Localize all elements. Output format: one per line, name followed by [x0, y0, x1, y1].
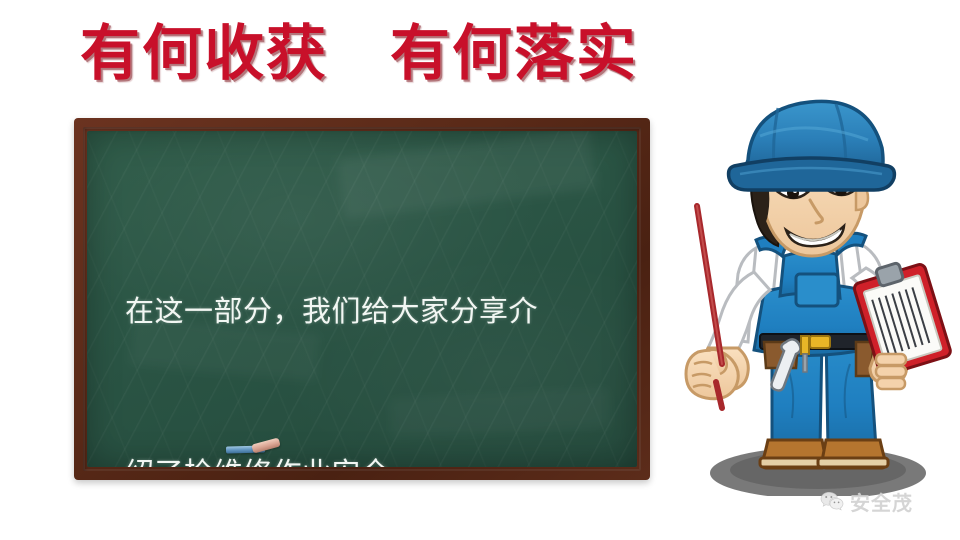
blackboard-frame: 在这一部分，我们给大家分享介 绍了检维修作业安全。 对于此部分内容，大家还有什么… [74, 118, 650, 480]
wechat-icon [820, 491, 844, 513]
worker-left-arm [686, 206, 770, 408]
blackboard: 在这一部分，我们给大家分享介 绍了检维修作业安全。 对于此部分内容，大家还有什么… [74, 118, 650, 480]
worker-boots [760, 440, 888, 468]
page-title: 有何收获 有何落实 [80, 14, 680, 94]
blackboard-text: 在这一部分，我们给大家分享介 绍了检维修作业安全。 对于此部分内容，大家还有什么… [125, 177, 615, 467]
watermark: 安全茂 [820, 487, 913, 516]
blackboard-surface: 在这一部分，我们给大家分享介 绍了检维修作业安全。 对于此部分内容，大家还有什么… [87, 131, 637, 467]
watermark-label: 安全茂 [850, 487, 913, 516]
worker-fist [686, 350, 738, 399]
worker-illustration [660, 96, 960, 496]
slide-canvas: 有何收获 有何落实 在这一部分，我们给大家分享介 绍了检维修作业安全。 对于此部… [0, 0, 960, 540]
hard-hat-icon [729, 101, 895, 190]
blackboard-line-2: 绍了检维修作业安全。 [125, 447, 615, 467]
worker-right-fingers [876, 354, 906, 389]
blackboard-line-1: 在这一部分，我们给大家分享介 [125, 285, 615, 339]
screwdriver-icon [801, 336, 809, 354]
